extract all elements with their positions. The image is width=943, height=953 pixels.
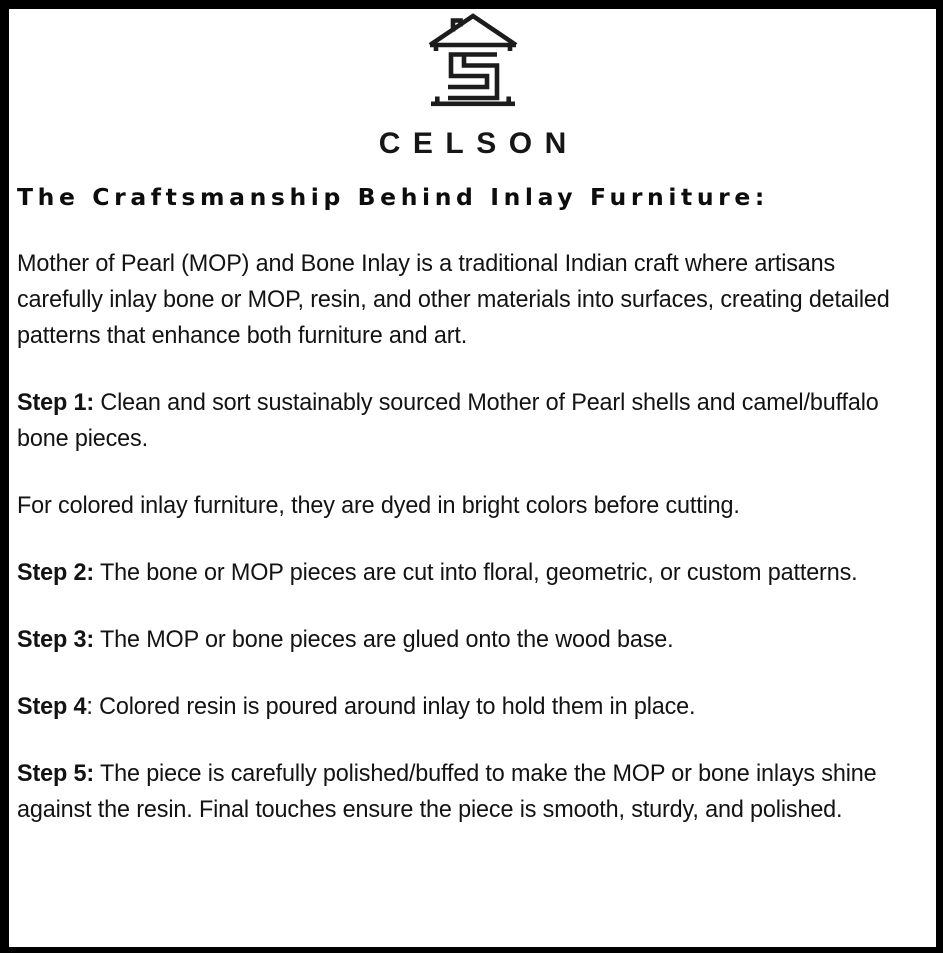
step-label: Step 2: bbox=[17, 559, 94, 586]
step-paragraph: For colored inlay furniture, they are dy… bbox=[17, 488, 915, 524]
page-title: The Craftsmanship Behind Inlay Furniture… bbox=[17, 181, 917, 213]
intro-paragraph: Mother of Pearl (MOP) and Bone Inlay is … bbox=[17, 246, 915, 354]
step-paragraph: Step 3: The MOP or bone pieces are glued… bbox=[17, 622, 915, 658]
step-text: The MOP or bone pieces are glued onto th… bbox=[94, 626, 673, 653]
step-text: : Colored resin is poured around inlay t… bbox=[86, 693, 695, 720]
step-text: For colored inlay furniture, they are dy… bbox=[17, 492, 740, 519]
house-monogram-icon bbox=[424, 13, 522, 113]
step-text: The bone or MOP pieces are cut into flor… bbox=[94, 559, 857, 586]
step-paragraph: Step 4: Colored resin is poured around i… bbox=[17, 689, 915, 725]
brand-header: CELSON bbox=[9, 9, 936, 169]
step-paragraph: Step 2: The bone or MOP pieces are cut i… bbox=[17, 555, 915, 591]
step-text: The piece is carefully polished/buffed t… bbox=[17, 760, 877, 823]
step-label: Step 3: bbox=[17, 626, 94, 653]
step-label: Step 4 bbox=[17, 693, 86, 720]
step-label: Step 1: bbox=[17, 389, 94, 416]
poster-frame: CELSON The Craftsmanship Behind Inlay Fu… bbox=[0, 0, 943, 953]
step-paragraph: Step 5: The piece is carefully polished/… bbox=[17, 756, 915, 828]
step-label: Step 5: bbox=[17, 760, 94, 787]
step-text: Clean and sort sustainably sourced Mothe… bbox=[17, 389, 879, 452]
content-column: The Craftsmanship Behind Inlay Furniture… bbox=[17, 181, 917, 828]
step-paragraph: Step 1: Clean and sort sustainably sourc… bbox=[17, 385, 915, 457]
brand-wordmark: CELSON bbox=[9, 127, 936, 161]
